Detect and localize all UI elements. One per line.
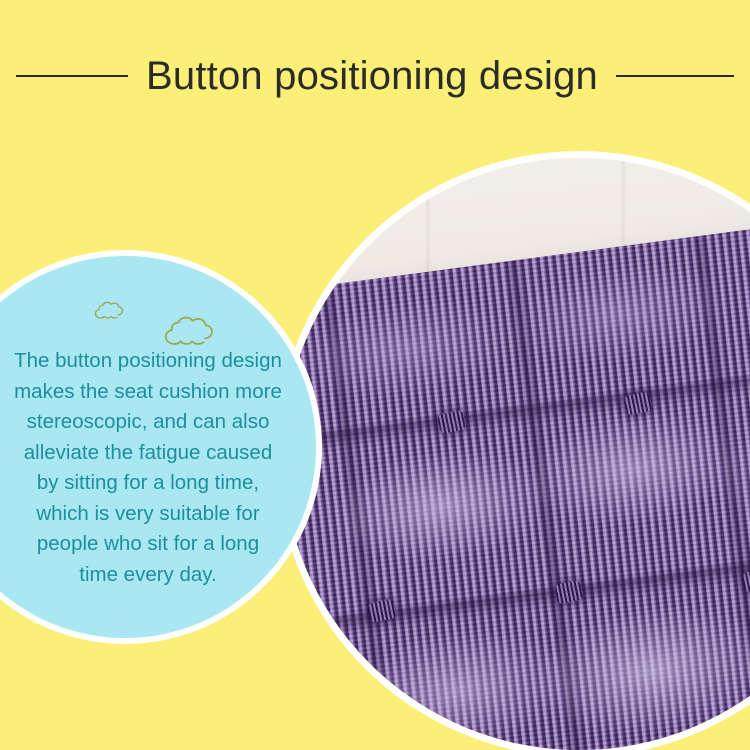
description-callout-circle: The button positioning design makes the …: [0, 256, 316, 638]
tuft-puff-highlights: [283, 204, 750, 750]
callout-body-text: The button positioning design makes the …: [6, 346, 296, 590]
page-title: Button positioning design: [146, 56, 598, 96]
decorative-rule-right: [616, 75, 734, 77]
cloud-decoration-group: [92, 294, 296, 346]
callout-content: The button positioning design makes the …: [6, 294, 296, 600]
seat-cushion-photo: [283, 158, 750, 750]
cloud-icon: [160, 310, 222, 359]
decorative-rule-left: [16, 75, 128, 77]
product-feature-poster: Button positioning design: [0, 0, 750, 750]
cloud-icon: [92, 298, 128, 329]
cushion-body: [283, 204, 750, 750]
page-title-row: Button positioning design: [0, 48, 750, 104]
